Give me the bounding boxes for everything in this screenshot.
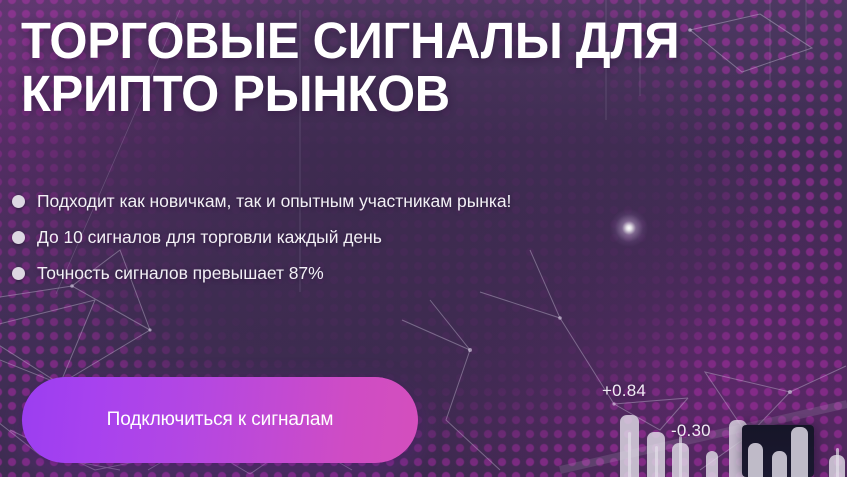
list-item-label: До 10 сигналов для торговли каждый день	[37, 227, 382, 247]
list-item-label: Подходит как новичкам, так и опытным уча…	[37, 191, 511, 211]
bullet-dot-icon	[12, 195, 25, 208]
connect-to-signals-button[interactable]: Подключиться к сигналам	[22, 377, 418, 463]
bullet-dot-icon	[12, 267, 25, 280]
list-item: До 10 сигналов для торговли каждый день	[12, 219, 712, 255]
content-layer: ТОРГОВЫЕ СИГНАЛЫ ДЛЯ КРИПТО РЫНКОВ Подхо…	[0, 0, 847, 477]
bullet-dot-icon	[12, 231, 25, 244]
value-label-positive: +0.84	[602, 381, 646, 401]
list-item: Точность сигналов превышает 87%	[12, 255, 712, 291]
feature-list: Подходит как новичкам, так и опытным уча…	[12, 183, 712, 291]
promo-banner: ТОРГОВЫЕ СИГНАЛЫ ДЛЯ КРИПТО РЫНКОВ Подхо…	[0, 0, 847, 477]
page-title: ТОРГОВЫЕ СИГНАЛЫ ДЛЯ КРИПТО РЫНКОВ	[21, 14, 789, 120]
list-item-label: Точность сигналов превышает 87%	[37, 263, 324, 283]
list-item: Подходит как новичкам, так и опытным уча…	[12, 183, 712, 219]
value-label-negative: -0.30	[671, 421, 711, 441]
